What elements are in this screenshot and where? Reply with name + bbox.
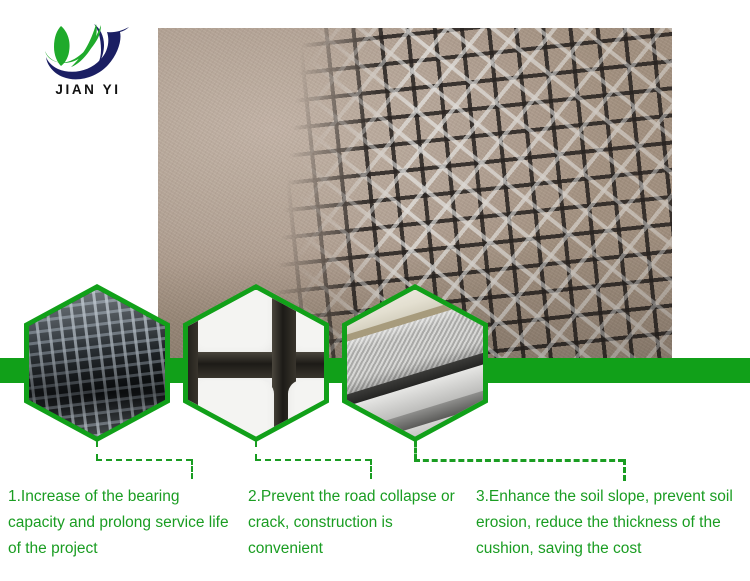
logo-wordmark: JIAN YI [28,82,148,97]
geogrid-closeup-art [188,290,324,437]
infographic-page: JIAN YI [0,0,750,581]
feature-hexagon-1-image [29,290,165,437]
feature-hexagon-1[interactable] [24,284,170,442]
feature-hexagon-3-image [347,290,483,437]
feature-hexagon-2-image [188,290,324,437]
logo-mark-icon [34,22,140,80]
geogrid-roll-art [29,290,165,437]
feature-caption-3: 3.Enhance the soil slope, prevent soil e… [476,484,748,562]
feature-caption-2: 2.Prevent the road collapse or crack, co… [248,484,470,562]
machinery-closeup-art [347,290,483,437]
company-logo: JIAN YI [28,22,148,104]
feature-caption-1: 1.Increase of the bearing capacity and p… [8,484,236,562]
